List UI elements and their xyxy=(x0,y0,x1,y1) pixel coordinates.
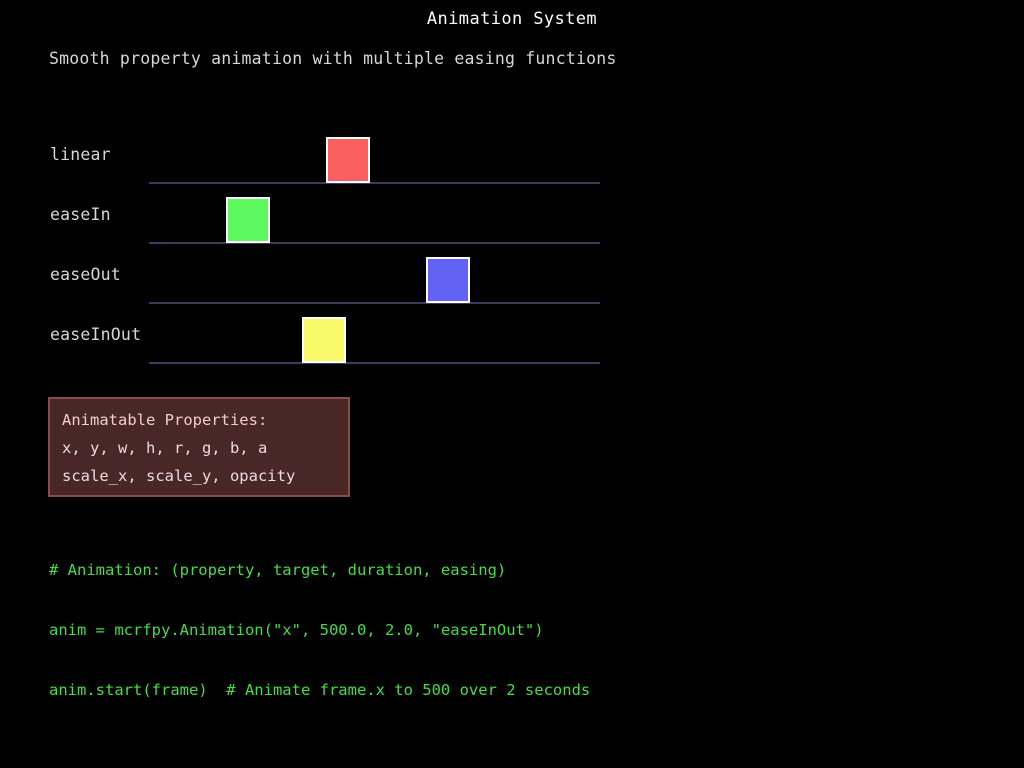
easing-track-easeinout: easeInOut xyxy=(0,310,1024,370)
easing-track-list: linear easeIn easeOut easeInOut xyxy=(0,0,1024,400)
easing-track-label-easeinout: easeInOut xyxy=(50,325,141,344)
easing-track-box-linear[interactable] xyxy=(326,137,370,183)
easing-track-label-easeout: easeOut xyxy=(50,265,121,284)
easing-track-easeout: easeOut xyxy=(0,250,1024,310)
animation-system-demo-screen: { "page": { "title": "Animation System",… xyxy=(0,0,1024,768)
easing-track-line-linear xyxy=(149,182,600,184)
easing-track-label-easein: easeIn xyxy=(50,205,111,224)
code-example-block: # Animation: (property, target, duration… xyxy=(49,520,590,720)
easing-track-box-easein[interactable] xyxy=(226,197,270,243)
easing-track-easein: easeIn xyxy=(0,190,1024,250)
easing-track-linear: linear xyxy=(0,130,1024,190)
easing-track-box-easeinout[interactable] xyxy=(302,317,346,363)
code-line: anim = mcrfpy.Animation("x", 500.0, 2.0,… xyxy=(49,620,590,640)
code-line: # Animation: (property, target, duration… xyxy=(49,560,590,580)
code-line: anim.start(frame) # Animate frame.x to 5… xyxy=(49,680,590,700)
animatable-properties-line: x, y, w, h, r, g, b, a xyxy=(62,439,267,457)
animatable-properties-line: scale_x, scale_y, opacity xyxy=(62,467,295,485)
animatable-properties-box: Animatable Properties: x, y, w, h, r, g,… xyxy=(48,397,350,497)
easing-track-box-easeout[interactable] xyxy=(426,257,470,303)
easing-track-label-linear: linear xyxy=(50,145,111,164)
easing-track-line-easeinout xyxy=(149,362,600,364)
animatable-properties-title: Animatable Properties: xyxy=(62,411,267,429)
easing-track-line-easein xyxy=(149,242,600,244)
easing-track-line-easeout xyxy=(149,302,600,304)
